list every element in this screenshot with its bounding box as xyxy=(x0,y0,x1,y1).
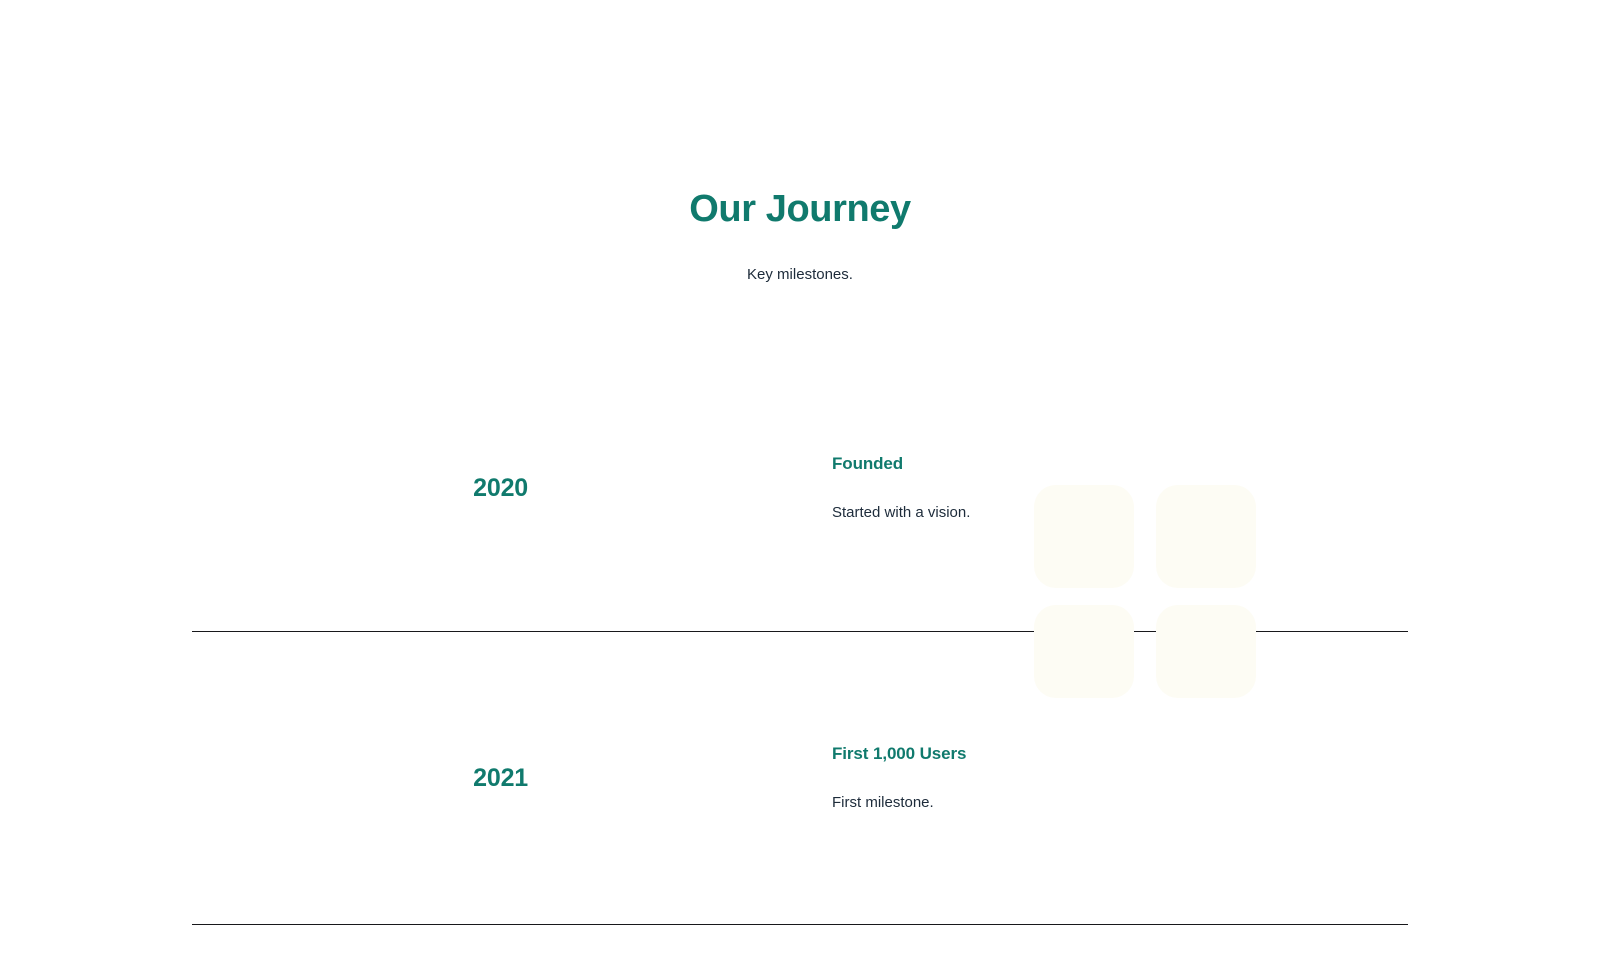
timeline-milestone-description: Started with a vision. xyxy=(832,475,1408,524)
page-root: Our Journey Key milestones. 2020 Founded… xyxy=(0,0,1600,978)
timeline-year-label: 2021 xyxy=(473,764,528,792)
timeline-list: 2020 Founded Started with a vision. 2021… xyxy=(192,345,1408,925)
timeline-content-cell: First 1,000 Users First milestone. xyxy=(536,743,1408,814)
timeline-milestone-title: Founded xyxy=(832,453,1408,475)
timeline-year-cell: 2021 xyxy=(192,763,536,793)
timeline-entry-2021[interactable]: 2021 First 1,000 Users First milestone. xyxy=(192,632,1408,925)
timeline-milestone-title: First 1,000 Users xyxy=(832,743,1408,765)
timeline-year-cell: 2020 xyxy=(192,473,536,503)
timeline-milestone-description: First milestone. xyxy=(832,765,1408,814)
section-header: Our Journey Key milestones. xyxy=(0,186,1600,286)
page-title: Our Journey xyxy=(0,186,1600,234)
timeline-entry-2020[interactable]: 2020 Founded Started with a vision. xyxy=(192,345,1408,632)
page-subtitle: Key milestones. xyxy=(0,234,1600,287)
timeline-content-cell: Founded Started with a vision. xyxy=(536,453,1408,524)
timeline-year-label: 2020 xyxy=(473,474,528,502)
